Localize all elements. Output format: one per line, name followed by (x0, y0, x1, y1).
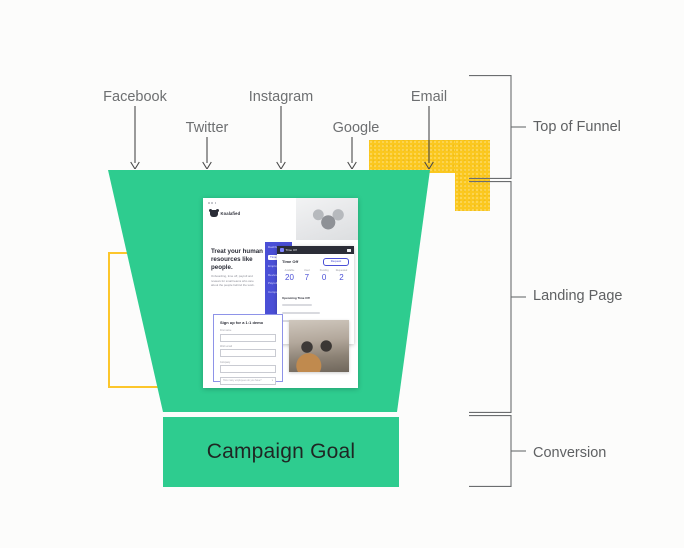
brand-name: Koalafied (221, 211, 241, 217)
window-controls-icon (347, 249, 351, 252)
field-label-work-email: Work email (220, 345, 276, 348)
stat-available: Available20 (281, 270, 298, 282)
team-photo (289, 320, 349, 372)
chevron-down-icon: ▾ (272, 379, 273, 382)
field-label-company: Company (220, 361, 276, 364)
stage-label-top-of-funnel: Top of Funnel (533, 119, 621, 135)
field-input-work-email[interactable] (220, 349, 276, 357)
landing-page-mockup: Koalafied Treat your human resources lik… (203, 198, 358, 388)
channel-label-twitter: Twitter (186, 120, 229, 136)
stat-used: Used7 (298, 270, 315, 282)
accent-bar-green-right (667, 452, 684, 494)
stat-value: 20 (281, 273, 298, 282)
app-window-titlebar: Time Off (277, 246, 354, 254)
stat-value: 2 (333, 273, 350, 282)
employee-count-placeholder: How many employees do you have? (223, 379, 262, 382)
field-label-first-name: First name (220, 329, 276, 332)
stage-bracket-conversion (469, 415, 527, 487)
stage-label-landing-page: Landing Page (533, 288, 623, 304)
arrow-down-icon-facebook (129, 106, 142, 169)
channel-label-facebook: Facebook (103, 89, 167, 105)
hero-body-text: Onboarding, time off, payroll and review… (211, 274, 261, 288)
list-row (282, 304, 312, 306)
list-row (282, 312, 320, 314)
form-title: Sign up for a 1:1 demo (220, 320, 276, 325)
upcoming-subtitle: Upcoming Time Off (282, 296, 310, 300)
campaign-goal-label: Campaign Goal (207, 440, 356, 464)
koala-logo-icon (210, 210, 218, 217)
stage-bracket-top-of-funnel (469, 75, 527, 179)
field-input-first-name[interactable] (220, 334, 276, 342)
panel-title: Time Off (282, 259, 298, 264)
koala-photo (296, 198, 358, 240)
channel-label-google: Google (333, 120, 380, 136)
field-input-company[interactable] (220, 365, 276, 373)
arrow-down-icon-twitter (201, 137, 214, 169)
app-window-title: Time Off (286, 248, 297, 252)
stage-label-conversion: Conversion (533, 445, 606, 461)
hero-headline: Treat your human resources like people. (211, 248, 263, 272)
stat-value: 7 (298, 273, 315, 282)
channel-label-instagram: Instagram (249, 89, 313, 105)
request-button[interactable]: Request (323, 258, 349, 266)
stage-bracket-landing-page (469, 181, 527, 413)
stat-pending: Pending0 (316, 270, 333, 282)
browser-dots-icon (208, 202, 216, 204)
demo-signup-form: Sign up for a 1:1 demo First nameWork em… (213, 314, 283, 382)
app-icon (280, 248, 284, 252)
arrow-down-icon-google (346, 137, 359, 169)
channel-label-email: Email (411, 89, 447, 105)
campaign-goal-banner: Campaign Goal (163, 417, 399, 487)
form-fields: First nameWork emailCompany (220, 329, 276, 373)
brand-logo: Koalafied (210, 210, 240, 217)
arrow-down-icon-email (423, 106, 436, 169)
stats-row: Available20Used7Pending0Requested2 (281, 270, 350, 282)
employee-count-select[interactable]: How many employees do you have? ▾ (220, 377, 276, 385)
accent-bar-yellow-left (0, 25, 18, 85)
stat-value: 0 (316, 273, 333, 282)
arrow-down-icon-instagram (275, 106, 288, 169)
stat-requested: Requested2 (333, 270, 350, 282)
funnel-diagram-canvas: Campaign Goal FacebookTwitterInstagramGo… (0, 0, 684, 548)
